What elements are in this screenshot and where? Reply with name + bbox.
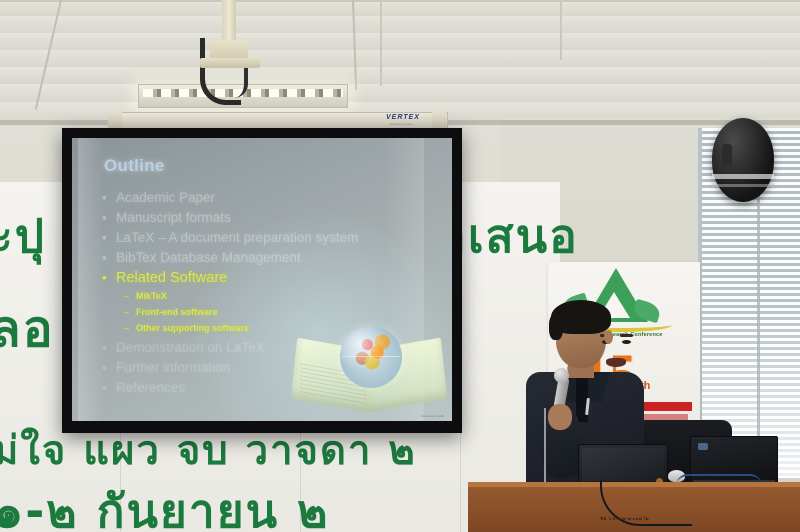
slide-title: Outline	[104, 156, 165, 176]
projected-slide: Outline • Academic Paper • Manuscript fo…	[72, 138, 452, 421]
bullet-marker-icon: •	[102, 270, 116, 286]
sub-bullet-label: MikTeX	[136, 290, 167, 303]
globe-on-book-image	[294, 334, 444, 412]
screen-case-cap-left	[108, 110, 122, 130]
wall-speaker-icon	[712, 118, 774, 202]
bullet-label: Demonstration on LaTeX	[116, 340, 265, 356]
bullet-marker-icon: •	[102, 380, 116, 396]
slide-footer-note: slide footer credit	[421, 414, 444, 418]
bullet-label: Manuscript formats	[116, 210, 231, 226]
bullet-label: LaTeX – A document preparation system	[116, 230, 358, 246]
bullet-item-manuscript-formats: • Manuscript formats	[102, 210, 432, 226]
bullet-marker-icon: •	[102, 230, 116, 246]
presenter-hand	[548, 404, 572, 430]
bullet-marker-icon: •	[102, 190, 116, 206]
projection-screen: Outline • Academic Paper • Manuscript fo…	[62, 128, 462, 433]
banner-thai-line-5: ๑-๒ กันยายน ๒	[0, 475, 329, 532]
banner-thai-line-1: ะปุ	[0, 200, 46, 273]
bullet-marker-icon: •	[102, 360, 116, 376]
vertex-brand-sublabel: projection screen	[390, 122, 413, 126]
screen-case-cap-right	[432, 110, 446, 130]
bullet-item-bibtex: • BibTex Database Management	[102, 250, 432, 266]
bullet-label: Academic Paper	[116, 190, 215, 206]
bullet-marker-icon: •	[102, 340, 116, 356]
sub-bullet-miktex: – MikTeX	[124, 290, 432, 303]
projector-arm	[200, 58, 260, 68]
bullet-label: Related Software	[116, 270, 227, 286]
sub-bullet-marker-icon: –	[124, 306, 136, 319]
bullet-item-related-software: • Related Software	[102, 270, 432, 286]
projector-mount-pole	[222, 0, 236, 44]
sub-bullet-frontend-software: – Front-end software	[124, 306, 432, 319]
sub-bullet-marker-icon: –	[124, 290, 136, 303]
bullet-label: BibTex Database Management	[116, 250, 301, 266]
bullet-marker-icon: •	[102, 210, 116, 226]
sub-bullet-marker-icon: –	[124, 322, 136, 335]
bullet-label: Further information	[116, 360, 230, 376]
bullet-marker-icon: •	[102, 250, 116, 266]
sub-bullet-label: Front-end software	[136, 306, 218, 319]
bullet-item-academic-paper: • Academic Paper	[102, 190, 432, 206]
asset-label: ชม ว.บ.-๐๗-๒-๐๐๘ /๒	[600, 515, 649, 522]
laptop-left-screen[interactable]	[582, 448, 664, 481]
sub-bullet-label: Other supporting software	[136, 322, 249, 335]
laptop-brand-logo-icon	[698, 443, 708, 450]
banner-thai-line-3: ลอ	[0, 290, 55, 369]
presentation-room-photo: ะปุ ำเสนอ ลอ ม่ใจ แผว จบ วาจดา ๒ ๑-๒ กัน…	[0, 0, 800, 532]
ceiling	[0, 0, 800, 128]
bullet-item-latex: • LaTeX – A document preparation system	[102, 230, 432, 246]
bullet-label: References	[116, 380, 185, 396]
globe-icon	[340, 326, 402, 388]
vertex-brand-label: VERTEX	[386, 114, 420, 121]
